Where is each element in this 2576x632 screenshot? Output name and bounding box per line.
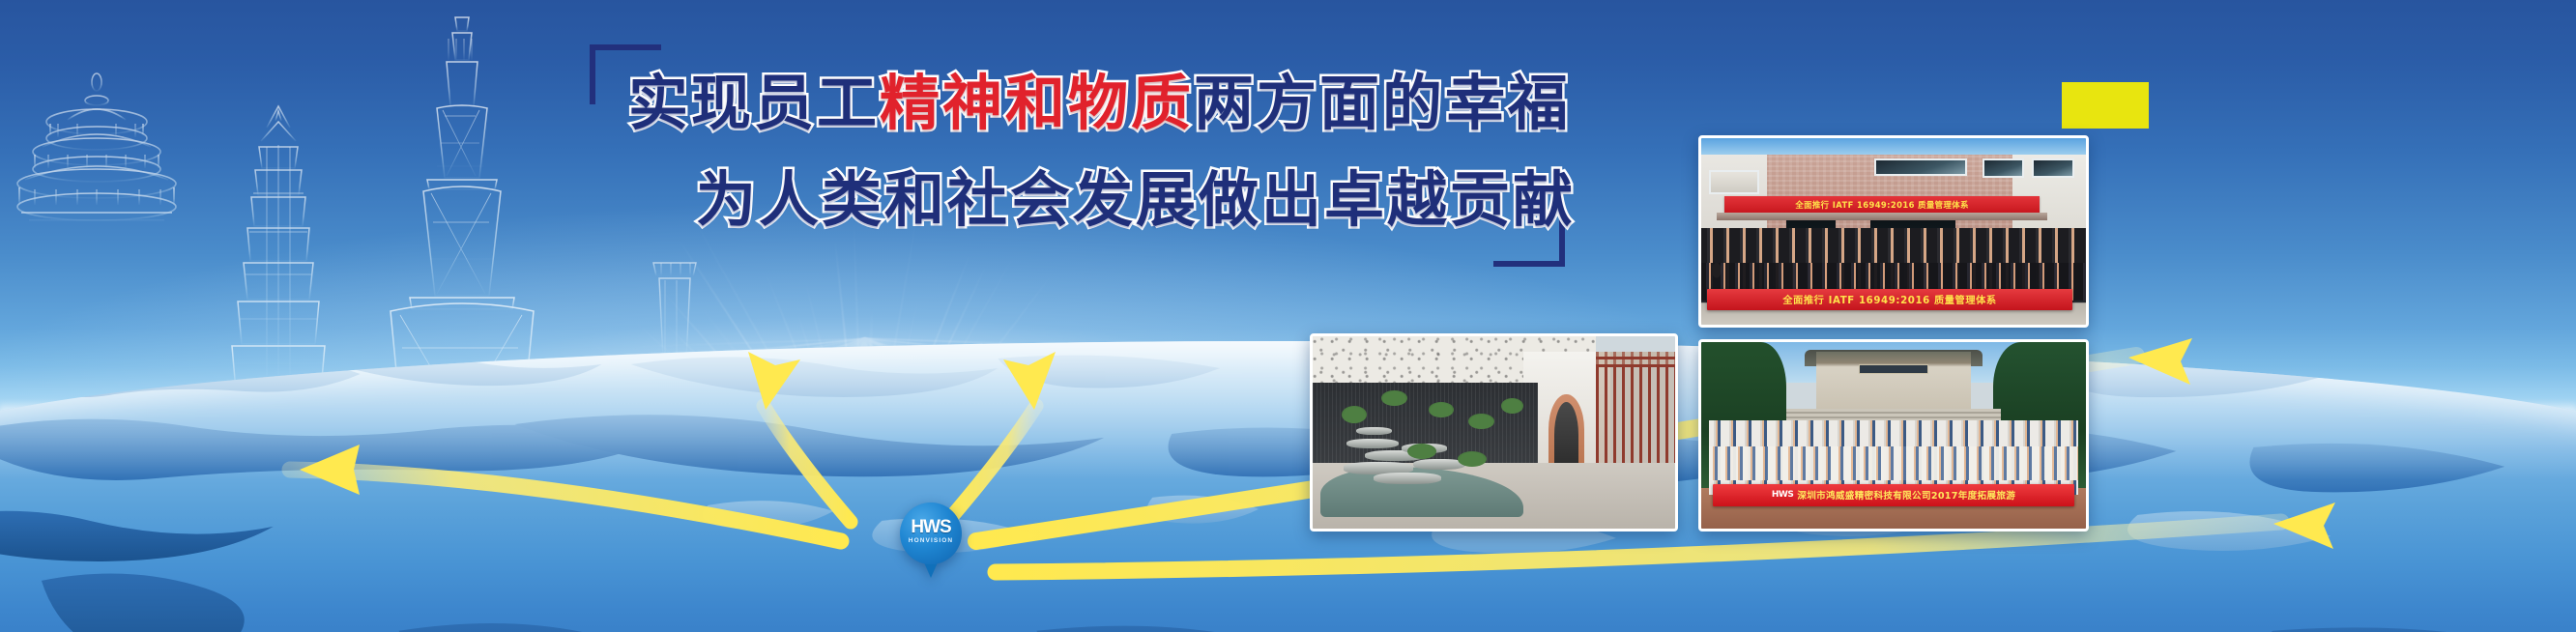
globe-world-map <box>0 341 2576 632</box>
outing-held-banner: HWS 深圳市鸿威盛精密科技有限公司2017年度拓展旅游 <box>1713 484 2074 506</box>
factory-wall-banner: 全面推行 IATF 16949:2016 质量管理体系 <box>1724 196 2040 213</box>
factory-window <box>1709 170 1759 194</box>
slogan-line1-seg2: 精神和物质 <box>880 73 1194 133</box>
garden-arch-doorway <box>1554 402 1579 472</box>
factory-canopy <box>1717 213 2047 220</box>
garden-plant <box>1342 406 1367 423</box>
factory-window <box>1983 158 2025 177</box>
photo-garden-inner <box>1313 336 1675 529</box>
slogan-line1-seg3: 两方面的幸福 <box>1194 73 1571 133</box>
map-pin-honvision[interactable]: HWS HONVISION <box>900 503 962 578</box>
garden-plant <box>1407 444 1436 459</box>
outing-banner-text: 深圳市鸿威盛精密科技有限公司2017年度拓展旅游 <box>1797 488 2015 502</box>
outing-crowd-back <box>1709 446 2078 480</box>
outing-gate-plaque <box>1859 364 1928 374</box>
iatf-factory-group-photo[interactable]: 全面推行 IATF 16949:2016 质量管理体系 全面推行 IATF 16… <box>1698 135 2089 328</box>
slogan-line2-seg1: 为人类和社会发展做出卓越贡献 <box>696 170 1576 230</box>
factory-held-banner: 全面推行 IATF 16949:2016 质量管理体系 <box>1707 289 2072 309</box>
garden-pergola-roof <box>1596 352 1676 367</box>
factory-window <box>1874 158 1967 175</box>
outing-banner-logo: HWS <box>1772 490 1793 500</box>
garden-pergola <box>1596 352 1676 463</box>
corporate-culture-banner: HWS HONVISION 实现员工精神和物质两方面的幸福 为人类和社会发展做出… <box>0 0 2576 632</box>
outing-temple-gate <box>1816 352 1970 416</box>
factory-window <box>2032 158 2074 177</box>
pin-brand-text: HONVISION <box>900 537 962 544</box>
temple-of-heaven-icon <box>17 73 176 220</box>
garden-plant <box>1468 414 1493 429</box>
slogan-line1-seg1: 实现员工 <box>628 73 880 133</box>
slogan-line-1: 实现员工精神和物质两方面的幸福 <box>628 73 1571 133</box>
slogan-block: 实现员工精神和物质两方面的幸福 为人类和社会发展做出卓越贡献 <box>590 44 1614 267</box>
pin-logo-text: HWS <box>900 518 962 536</box>
slogan-line-2: 为人类和社会发展做出卓越贡献 <box>696 170 1576 230</box>
courtyard-garden-photo[interactable] <box>1310 333 1678 531</box>
photo-outing-inner: HWS 深圳市鸿威盛精密科技有限公司2017年度拓展旅游 <box>1701 342 2086 529</box>
garden-plant <box>1381 390 1406 406</box>
company-outing-2017-photo[interactable]: HWS 深圳市鸿威盛精密科技有限公司2017年度拓展旅游 <box>1698 339 2089 531</box>
factory-sky <box>1701 138 2086 155</box>
garden-plant <box>1429 402 1454 417</box>
garden-plant <box>1501 398 1523 414</box>
continent-shapes <box>0 341 2576 632</box>
yellow-accent-block <box>2062 82 2149 129</box>
photo-iatf-inner: 全面推行 IATF 16949:2016 质量管理体系 全面推行 IATF 16… <box>1701 138 2086 325</box>
